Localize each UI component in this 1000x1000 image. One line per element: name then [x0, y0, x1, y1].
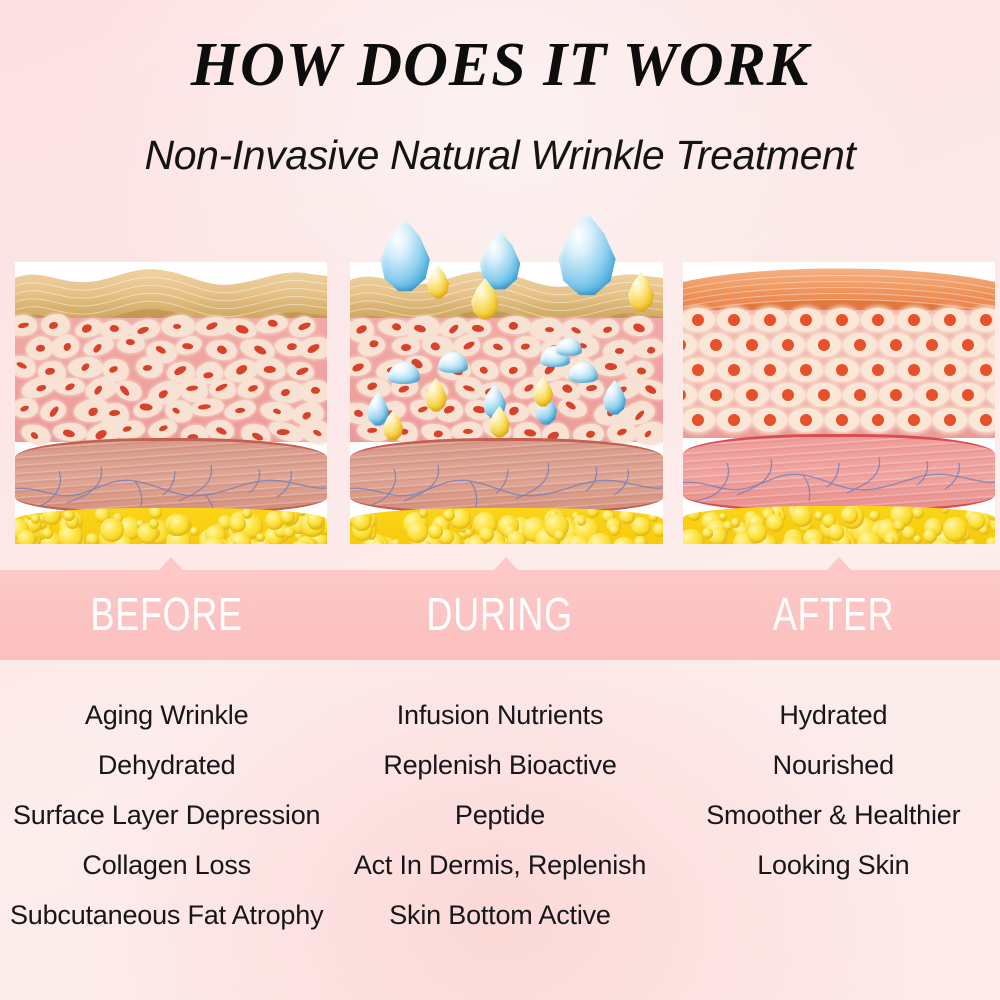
fat-globule: [407, 521, 429, 543]
skin-cell: [933, 308, 967, 332]
fat-globule: [719, 513, 727, 521]
cell-nucleus: [139, 403, 153, 412]
cell-nucleus: [728, 364, 740, 376]
cell-nucleus: [48, 406, 61, 419]
cell-nucleus: [836, 414, 848, 426]
fat-globule: [687, 507, 701, 521]
cell-nucleus: [109, 324, 120, 333]
water-droplet-absorbed-icon: [438, 352, 468, 373]
skin-cell: [843, 383, 877, 407]
cell-nucleus: [215, 426, 228, 437]
list-item: Collagen Loss: [0, 840, 333, 890]
cell-nucleus: [872, 314, 884, 326]
cell-nucleus: [692, 314, 704, 326]
cell-nucleus: [312, 429, 322, 438]
serum-droplet-icon: [424, 378, 448, 412]
cell-nucleus: [272, 407, 282, 415]
cell-nucleus: [764, 364, 776, 376]
skin-cell: [161, 315, 195, 338]
dermis-layer-after: [683, 310, 995, 438]
detail-column-before: Aging Wrinkle Dehydrated Surface Layer D…: [0, 690, 333, 960]
cell-nucleus: [836, 314, 848, 326]
fat-globule: [912, 507, 924, 519]
dermis-layer-before: [15, 318, 327, 442]
stage-label-after: AFTER: [703, 570, 963, 660]
diagram-panels: [0, 262, 1000, 544]
fat-globule: [479, 527, 494, 542]
fat-globule: [609, 525, 620, 536]
cell-nucleus: [64, 383, 75, 392]
cell-nucleus: [306, 343, 321, 355]
list-item: Act In Dermis, Replenish: [333, 840, 666, 890]
header: HOW DOES IT WORK Non-Invasive Natural Wr…: [0, 0, 1000, 176]
skin-cell: [173, 333, 204, 358]
cell-nucleus: [235, 364, 249, 376]
fat-globule: [17, 530, 36, 544]
cell-nucleus: [143, 365, 152, 371]
fat-globule: [660, 541, 663, 544]
cell-nucleus: [764, 314, 776, 326]
list-item: Nourished: [667, 740, 1000, 790]
vessel-layer-before: [15, 438, 327, 514]
list-item: Looking Skin: [667, 840, 1000, 890]
skin-cell: [825, 408, 859, 432]
skin-cross-section-during: [350, 262, 663, 544]
cell-nucleus: [198, 404, 211, 410]
fat-globule: [989, 507, 995, 521]
skin-cell: [683, 383, 697, 407]
cell-nucleus: [267, 318, 279, 328]
fat-globule: [587, 508, 599, 518]
cell-nucleus: [19, 406, 29, 413]
cell-nucleus: [854, 339, 866, 351]
skin-cell: [54, 378, 86, 396]
cell-nucleus: [908, 414, 920, 426]
cell-nucleus: [36, 385, 47, 393]
water-droplet-icon: [602, 380, 627, 415]
band-notch-during: [493, 557, 519, 571]
fat-globule: [702, 528, 713, 539]
band-notch-after: [826, 557, 852, 571]
cell-nucleus: [215, 383, 229, 393]
fat-globule: [893, 520, 904, 531]
list-item: Subcutaneous Fat Atrophy: [0, 890, 333, 940]
cell-nucleus: [281, 389, 291, 397]
stage-label-during: DURING: [370, 570, 630, 660]
skin-cell: [933, 358, 967, 382]
cell-nucleus: [136, 325, 150, 335]
water-droplet-absorbed-icon: [556, 338, 582, 356]
skin-cell: [205, 339, 238, 362]
cell-nucleus: [836, 364, 848, 376]
cell-nucleus: [980, 414, 992, 426]
skin-cell: [735, 383, 769, 407]
skin-cell: [915, 333, 949, 357]
fat-globule: [86, 533, 99, 544]
fat-globule: [631, 517, 651, 537]
fat-globule: [391, 539, 401, 545]
detail-column-after: Hydrated Nourished Smoother & Healthier …: [667, 690, 1000, 960]
blood-vessel-icon: [15, 441, 327, 514]
skin-cell: [789, 308, 823, 332]
list-item: Hydrated: [667, 690, 1000, 740]
cell-nucleus: [962, 389, 974, 401]
fat-globule: [256, 533, 265, 542]
cell-nucleus: [203, 372, 213, 378]
skin-cell: [753, 308, 787, 332]
cell-nucleus: [18, 323, 29, 330]
cell-nucleus: [205, 321, 219, 331]
skin-cell: [699, 333, 733, 357]
cell-nucleus: [800, 414, 812, 426]
vessel-layer-during: [350, 438, 663, 514]
skin-cell: [717, 308, 751, 332]
cell-nucleus: [125, 338, 135, 346]
fat-globule: [149, 508, 162, 519]
list-item: Replenish Bioactive: [333, 740, 666, 790]
droplets-inside-skin: [350, 318, 663, 444]
fat-globule: [100, 518, 124, 542]
cell-nucleus: [890, 339, 902, 351]
band-notch-before: [158, 557, 184, 571]
skin-cell: [753, 408, 787, 432]
cell-nucleus: [728, 414, 740, 426]
blood-vessel-icon: [683, 437, 995, 512]
cell-nucleus: [980, 364, 992, 376]
cell-nucleus: [683, 389, 686, 401]
skin-cell: [699, 383, 733, 407]
fat-globule: [828, 524, 845, 541]
cell-nucleus: [310, 386, 321, 395]
fat-globule: [42, 528, 53, 539]
cell-nucleus: [123, 425, 133, 432]
fat-globule: [352, 513, 370, 531]
fat-globule: [986, 537, 995, 544]
cell-nucleus: [186, 385, 198, 391]
cell-nucleus: [216, 344, 229, 357]
cell-nucleus: [854, 389, 866, 401]
cell-nucleus: [235, 323, 250, 335]
cell-nucleus: [764, 414, 776, 426]
skin-cell: [286, 313, 317, 339]
cell-cluster-round: [683, 310, 995, 438]
skin-cell: [222, 315, 259, 341]
skin-cell: [735, 333, 769, 357]
skin-cell: [825, 308, 859, 332]
cell-nucleus: [154, 344, 166, 355]
skin-cell: [298, 379, 327, 404]
cell-nucleus: [247, 384, 258, 392]
skin-cell: [15, 397, 39, 419]
cell-nucleus: [746, 389, 758, 401]
fat-globule: [766, 514, 784, 532]
cell-nucleus: [728, 314, 740, 326]
fat-globule: [31, 514, 41, 524]
cell-nucleus: [61, 428, 75, 438]
skin-cell: [717, 408, 751, 432]
fat-layer-before: [15, 508, 327, 544]
skin-cell: [789, 358, 823, 382]
skin-cell: [933, 408, 967, 432]
cell-nucleus: [746, 339, 758, 351]
cell-nucleus: [296, 366, 310, 376]
fat-globule: [577, 517, 586, 526]
skin-cell: [771, 333, 805, 357]
list-item: Infusion Nutrients: [333, 690, 666, 740]
cell-nucleus: [926, 339, 938, 351]
skin-cell: [915, 383, 949, 407]
skin-cell: [879, 333, 913, 357]
cell-nucleus: [30, 430, 40, 440]
fat-layer-after: [683, 506, 995, 544]
cell-nucleus: [890, 389, 902, 401]
skin-cell: [286, 359, 316, 381]
skin-cell: [879, 383, 913, 407]
cell-cluster-irregular: [15, 318, 327, 442]
cell-nucleus: [108, 365, 118, 373]
cell-nucleus: [980, 314, 992, 326]
list-item: Smoother & Healthier: [667, 790, 1000, 840]
cell-nucleus: [159, 424, 169, 432]
cell-nucleus: [908, 314, 920, 326]
cell-nucleus: [173, 324, 182, 330]
skin-cell: [209, 380, 236, 399]
cell-nucleus: [297, 321, 311, 331]
stage-label-before: BEFORE: [37, 570, 297, 660]
skin-cell: [861, 308, 895, 332]
skin-cell: [951, 383, 985, 407]
skin-cell: [897, 358, 931, 382]
skin-cell: [49, 332, 83, 362]
fat-globule: [507, 531, 526, 544]
cell-nucleus: [92, 343, 103, 354]
cell-nucleus: [182, 342, 194, 350]
skin-cross-section-before: [15, 262, 327, 544]
skin-cell: [15, 315, 37, 337]
cell-nucleus: [944, 364, 956, 376]
fat-globule: [612, 537, 636, 545]
fat-globule: [649, 513, 658, 522]
skin-cell: [969, 408, 995, 432]
skin-cell: [717, 358, 751, 382]
cell-nucleus: [264, 365, 276, 373]
fat-globule: [968, 512, 986, 530]
cell-nucleus: [49, 322, 58, 329]
skin-cell: [37, 398, 69, 426]
skin-cell: [897, 408, 931, 432]
cell-nucleus: [36, 344, 46, 352]
cell-nucleus: [276, 428, 289, 435]
list-item: Skin Bottom Active: [333, 890, 666, 940]
list-item: Surface Layer Depression: [0, 790, 333, 840]
skin-cell: [807, 333, 841, 357]
skin-cell: [897, 308, 931, 332]
cell-nucleus: [171, 407, 181, 417]
cell-nucleus: [800, 364, 812, 376]
fat-layer-during: [350, 508, 663, 544]
skin-cross-section-after: [683, 262, 995, 544]
skin-cell: [683, 358, 715, 382]
fat-globule: [554, 530, 565, 541]
cell-nucleus: [818, 389, 830, 401]
detail-column-during: Infusion Nutrients Replenish Bioactive P…: [333, 690, 666, 960]
fat-globule: [149, 519, 159, 529]
fat-globule: [443, 509, 455, 521]
fat-globule: [619, 509, 634, 524]
fat-globule: [841, 507, 858, 524]
skin-cell: [298, 337, 327, 360]
vessel-layer-after: [683, 434, 995, 512]
cell-nucleus: [63, 342, 73, 352]
stage-detail-columns: Aging Wrinkle Dehydrated Surface Layer D…: [0, 690, 1000, 960]
stage-label-band: BEFORE DURING AFTER: [0, 570, 1000, 660]
cell-nucleus: [235, 408, 246, 414]
cell-nucleus: [120, 384, 132, 397]
fat-globule: [941, 506, 950, 514]
skin-cell: [753, 358, 787, 382]
cell-nucleus: [818, 339, 830, 351]
cell-nucleus: [683, 339, 686, 351]
fat-globule: [280, 510, 295, 525]
cell-nucleus: [692, 364, 704, 376]
fat-globule: [634, 536, 646, 544]
skin-cell: [807, 383, 841, 407]
wavy-epidermis-during-icon: [350, 262, 663, 324]
cell-nucleus: [926, 389, 938, 401]
cell-nucleus: [81, 324, 93, 334]
skin-cell: [259, 400, 297, 424]
cell-nucleus: [800, 314, 812, 326]
cell-nucleus: [46, 368, 56, 376]
fat-globule: [869, 511, 879, 521]
skin-cell: [987, 333, 995, 357]
skin-cell: [789, 408, 823, 432]
fat-globule: [283, 527, 295, 539]
fat-globule: [428, 524, 443, 539]
fat-globule: [943, 517, 968, 542]
list-item: Aging Wrinkle: [0, 690, 333, 740]
skin-cell: [969, 358, 995, 382]
cell-nucleus: [88, 407, 99, 417]
skin-cell: [861, 358, 895, 382]
cell-nucleus: [962, 339, 974, 351]
skin-cell: [683, 308, 715, 332]
water-droplet-absorbed-icon: [388, 362, 420, 384]
skin-cell: [843, 333, 877, 357]
blood-vessel-icon: [350, 441, 663, 514]
skin-cell: [136, 356, 164, 379]
page-subtitle: Non-Invasive Natural Wrinkle Treatment: [0, 96, 1000, 176]
fat-globule: [913, 535, 922, 544]
cell-nucleus: [944, 314, 956, 326]
list-item: Peptide: [333, 790, 666, 840]
skin-cell: [825, 358, 859, 382]
list-item: Dehydrated: [0, 740, 333, 790]
skin-cell: [683, 408, 715, 432]
cell-nucleus: [908, 364, 920, 376]
skin-cell: [68, 357, 103, 378]
cell-nucleus: [253, 344, 267, 357]
fat-globule: [723, 521, 733, 531]
skin-cell: [771, 383, 805, 407]
cell-nucleus: [872, 364, 884, 376]
skin-cell: [683, 333, 697, 357]
cell-nucleus: [80, 362, 91, 372]
skin-cell: [52, 423, 86, 443]
skin-cell: [861, 408, 895, 432]
water-droplet-absorbed-icon: [568, 362, 598, 383]
page-title: HOW DOES IT WORK: [0, 0, 1000, 96]
skin-cell: [222, 397, 258, 423]
fat-globule: [190, 527, 199, 536]
fat-globule: [886, 537, 896, 544]
fat-globule: [63, 510, 74, 521]
cell-nucleus: [92, 384, 104, 396]
cell-nucleus: [173, 365, 188, 377]
cell-nucleus: [287, 343, 297, 351]
fat-globule: [683, 529, 704, 544]
cell-nucleus: [710, 389, 722, 401]
skin-cell: [969, 308, 995, 332]
cell-nucleus: [782, 389, 794, 401]
cell-nucleus: [15, 360, 27, 370]
cell-nucleus: [710, 339, 722, 351]
cell-nucleus: [782, 339, 794, 351]
cell-nucleus: [110, 409, 121, 415]
fat-globule: [419, 509, 428, 518]
cell-nucleus: [944, 414, 956, 426]
fat-globule: [653, 523, 663, 537]
skin-cell: [951, 333, 985, 357]
cell-nucleus: [692, 414, 704, 426]
skin-cell: [987, 383, 995, 407]
cell-nucleus: [872, 414, 884, 426]
